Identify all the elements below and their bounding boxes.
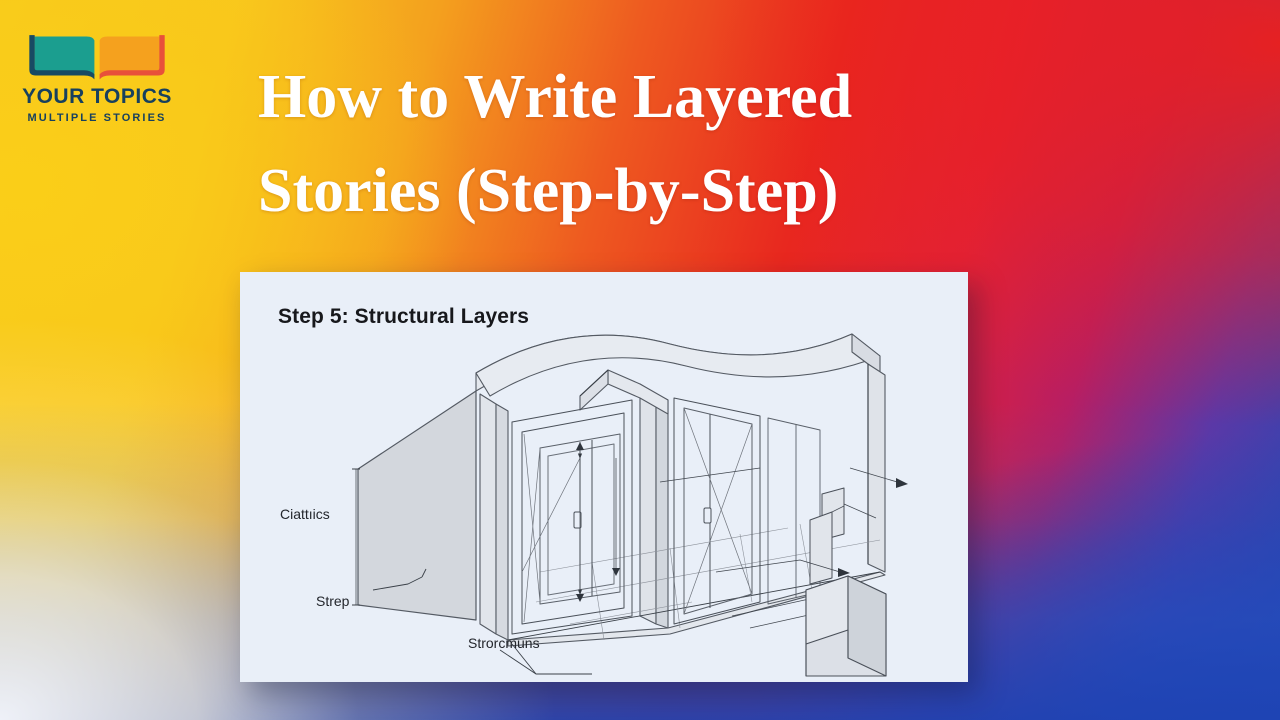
figure-card: Step 5: Structural Layers [240,272,968,682]
isometric-building-diagram: Ciattıics Strep Strorcmuns [240,272,968,682]
figure-label-0: Ciattıics [280,506,330,522]
figure-label-1: Strep [316,593,350,609]
brand-logo: YOUR TOPICS MULTIPLE STORIES [14,30,180,124]
figure-label-2: Strorcmuns [468,635,540,651]
page-title: How to Write Layered Stories (Step-by-St… [258,50,998,238]
open-book-icon [14,30,180,82]
page-title-line-1: How to Write Layered [258,50,998,144]
brand-name: YOUR TOPICS [14,86,180,108]
brand-tagline: MULTIPLE STORIES [14,112,180,124]
page-title-line-2: Stories (Step-by-Step) [258,144,998,238]
